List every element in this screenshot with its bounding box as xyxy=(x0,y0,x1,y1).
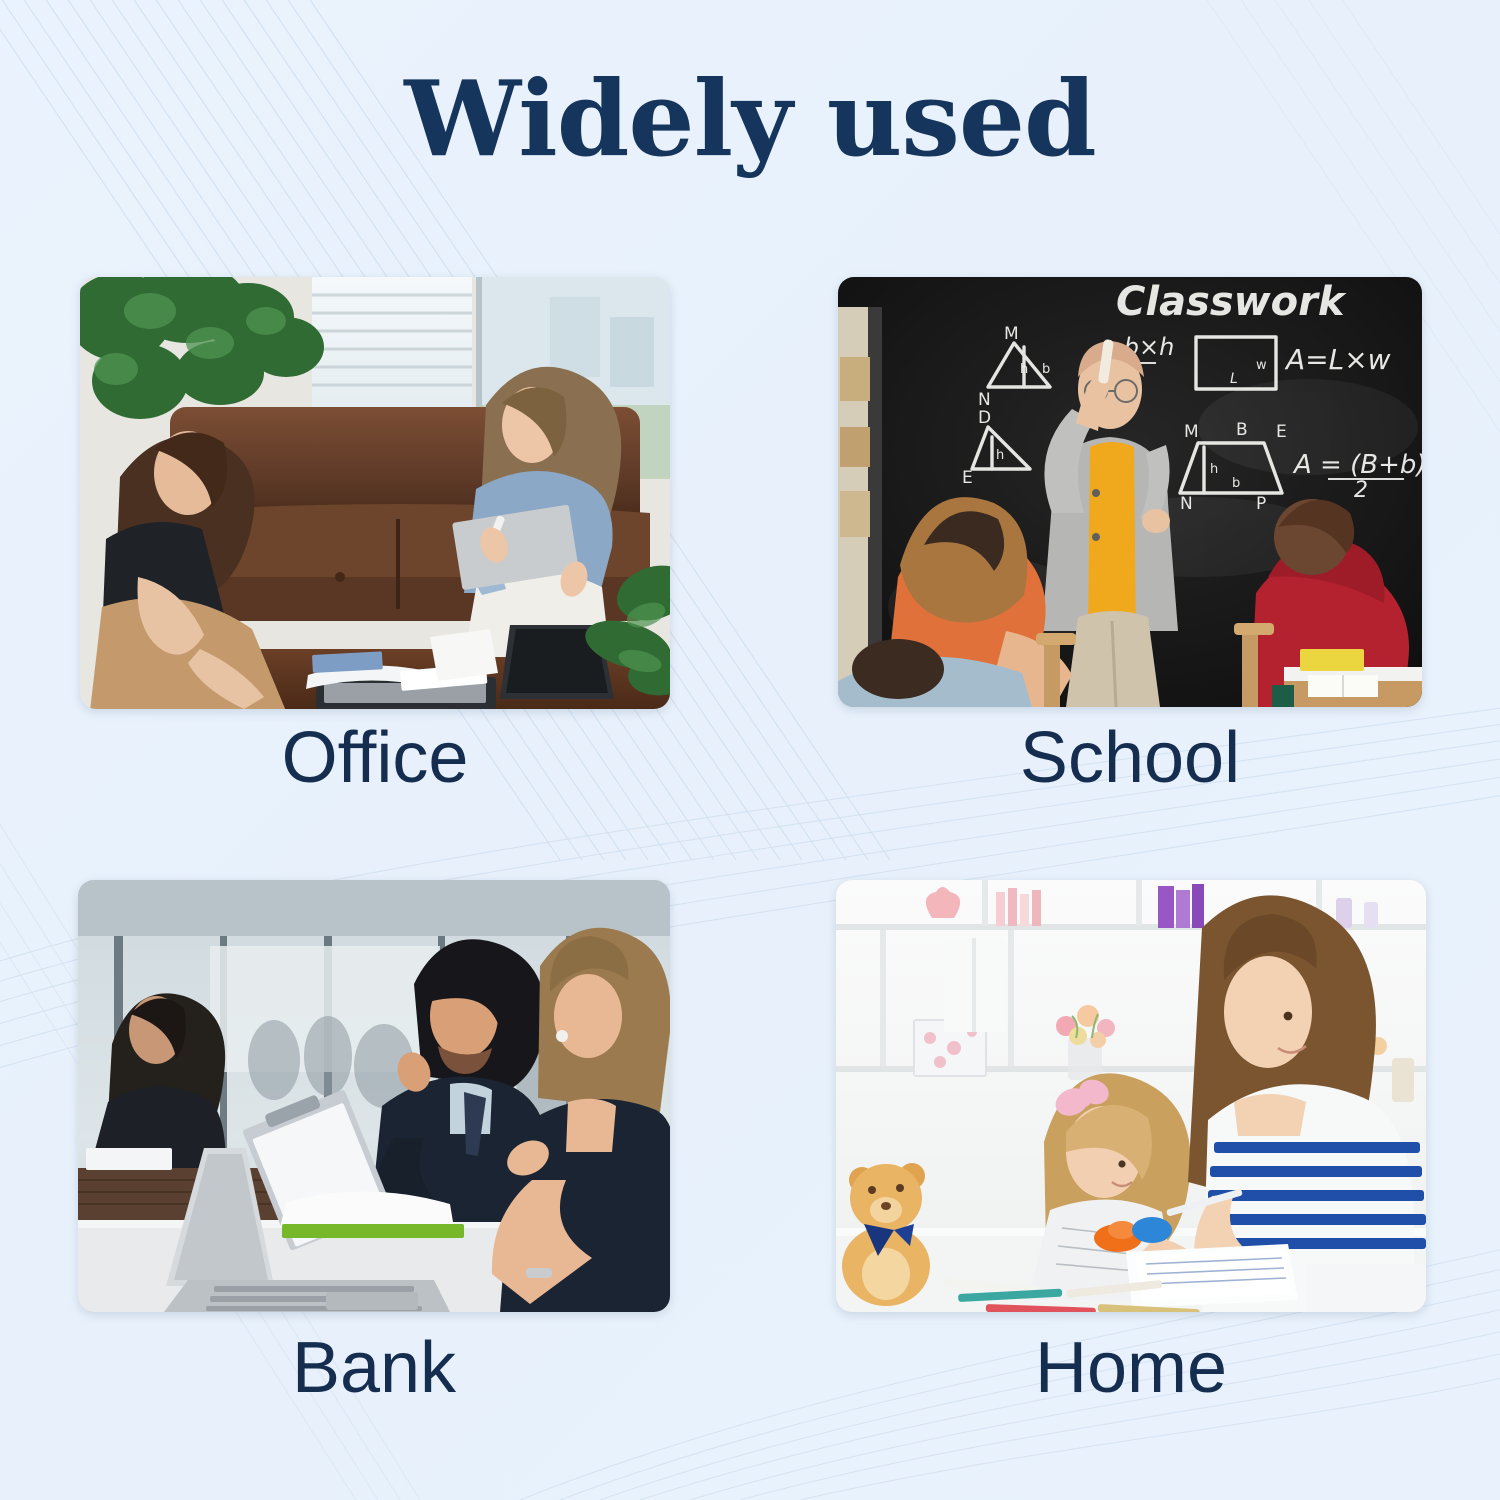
home-scene-illustration xyxy=(836,880,1426,1312)
svg-text:b: b xyxy=(1232,476,1240,491)
svg-text:w: w xyxy=(1256,358,1267,373)
page-title: Widely used xyxy=(0,62,1500,176)
svg-text:E: E xyxy=(962,468,973,488)
office-scene-illustration xyxy=(80,277,670,709)
svg-text:D: D xyxy=(978,408,991,428)
svg-text:M: M xyxy=(1184,422,1199,442)
card-bank[interactable] xyxy=(78,880,670,1312)
card-school[interactable]: Classwork M N h b D E h L w M B E N P h … xyxy=(838,277,1422,707)
caption-school: School xyxy=(838,722,1422,794)
svg-text:P: P xyxy=(1256,494,1266,514)
photo-home xyxy=(836,880,1426,1312)
svg-text:E: E xyxy=(1276,422,1287,442)
svg-text:B: B xyxy=(1236,420,1248,440)
card-home[interactable] xyxy=(836,880,1426,1312)
svg-text:N: N xyxy=(978,390,991,410)
svg-text:b: b xyxy=(1042,362,1050,377)
svg-text:L: L xyxy=(1230,371,1238,387)
svg-text:Classwork: Classwork xyxy=(1116,279,1347,325)
svg-text:A = (B+b)×h: A = (B+b)×h xyxy=(1292,450,1422,480)
photo-bank xyxy=(78,880,670,1312)
caption-office: Office xyxy=(80,722,670,794)
photo-office xyxy=(80,277,670,709)
svg-text:N: N xyxy=(1180,494,1193,514)
svg-text:2: 2 xyxy=(1354,478,1368,503)
card-office[interactable] xyxy=(80,277,670,709)
caption-bank: Bank xyxy=(78,1332,670,1404)
svg-text:M: M xyxy=(1004,324,1019,344)
school-scene-illustration: Classwork M N h b D E h L w M B E N P h … xyxy=(838,277,1422,707)
svg-text:h: h xyxy=(1020,362,1028,377)
svg-text:h: h xyxy=(996,448,1004,463)
photo-school: Classwork M N h b D E h L w M B E N P h … xyxy=(838,277,1422,707)
svg-text:h: h xyxy=(1210,462,1218,477)
caption-home: Home xyxy=(836,1332,1426,1404)
bank-scene-illustration xyxy=(78,880,670,1312)
svg-text:A=L×w: A=L×w xyxy=(1284,343,1391,376)
